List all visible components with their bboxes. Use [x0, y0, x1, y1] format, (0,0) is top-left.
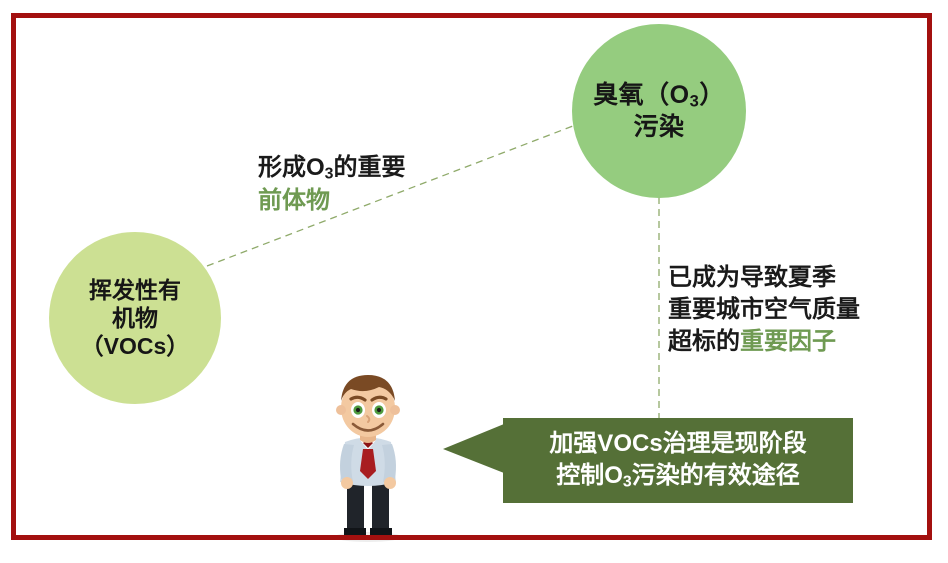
cartoon-businessman-icon — [308, 368, 428, 543]
ozone-subscript: 3 — [690, 93, 700, 111]
bubble-subscript: 3 — [623, 473, 632, 490]
label-ozone-precursor: 形成O3的重要前体物 — [258, 152, 488, 217]
speech-bubble-tail — [443, 424, 504, 473]
node-ozone-label: 臭氧（O3）污染 — [593, 80, 725, 142]
node-volatile-organic-compounds[interactable]: 挥发性有机物（VOCs） — [49, 232, 221, 404]
node-ozone-pollution[interactable]: 臭氧（O3）污染 — [572, 24, 746, 198]
label-summer-highlight: 重要因子 — [740, 328, 836, 355]
node-vocs-label: 挥发性有机物（VOCs） — [81, 276, 190, 360]
speech-bubble-text: 加强VOCs治理是现阶段控制O3污染的有效途径 — [549, 428, 806, 493]
label-summer-air-quality: 已成为导致夏季重要城市空气质量超标的重要因子 — [668, 262, 908, 358]
diagram-canvas: 臭氧（O3）污染 挥发性有机物（VOCs） 形成O3的重要前体物 已成为导致夏季… — [0, 0, 948, 563]
speech-bubble-recommendation[interactable]: 加强VOCs治理是现阶段控制O3污染的有效途径 — [503, 418, 853, 503]
label-precursor-highlight: 前体物 — [258, 187, 330, 214]
